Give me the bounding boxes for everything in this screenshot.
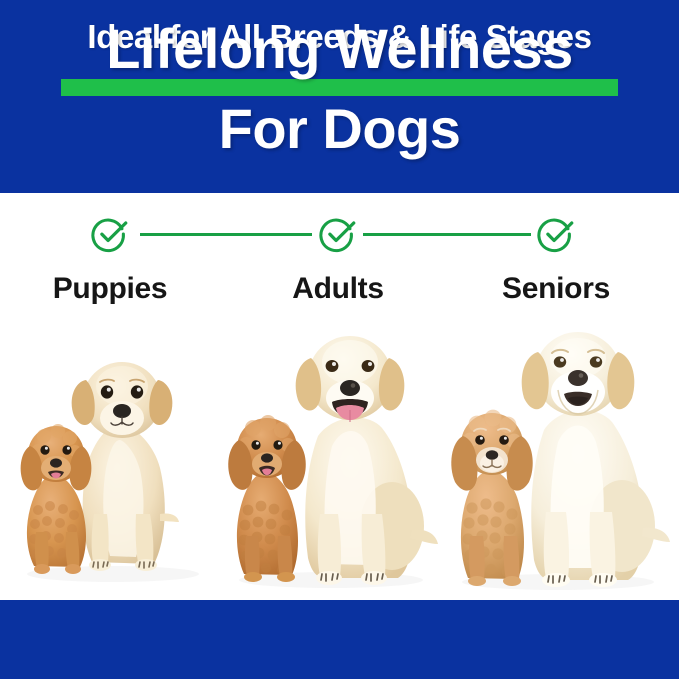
- page-title-line-2: For Dogs: [0, 101, 679, 157]
- product-infographic-poster: Lifelong Wellness For Dogs Puppi: [0, 0, 679, 679]
- footer-banner: [0, 600, 679, 679]
- page-title-line-1: Lifelong Wellness: [0, 21, 679, 77]
- dog-group-adults: [222, 318, 440, 600]
- dog-group-puppies: [8, 318, 218, 600]
- check-circle-icon-puppies: [89, 213, 131, 255]
- dog-photo-row: [0, 318, 679, 600]
- check-circle-icon-adults: [317, 213, 359, 255]
- poodle-adult: [228, 415, 306, 582]
- timeline-connector-1: [140, 233, 312, 236]
- check-circle-icon-seniors: [535, 213, 577, 255]
- stage-label-puppies: Puppies: [10, 272, 210, 306]
- life-stage-timeline: [0, 213, 679, 257]
- life-stage-labels: Puppies Adults Seniors: [0, 272, 679, 316]
- poodle-senior: [451, 410, 532, 586]
- stage-label-adults: Adults: [238, 272, 438, 306]
- title-block: Lifelong Wellness For Dogs: [0, 0, 679, 193]
- dog-group-seniors: [444, 318, 672, 600]
- title-underline-bar: [61, 79, 618, 96]
- labrador-senior: [522, 332, 670, 587]
- poodle-puppy: [21, 424, 92, 574]
- labrador-adult: [296, 336, 438, 585]
- stage-label-seniors: Seniors: [456, 272, 656, 306]
- timeline-connector-2: [363, 233, 531, 236]
